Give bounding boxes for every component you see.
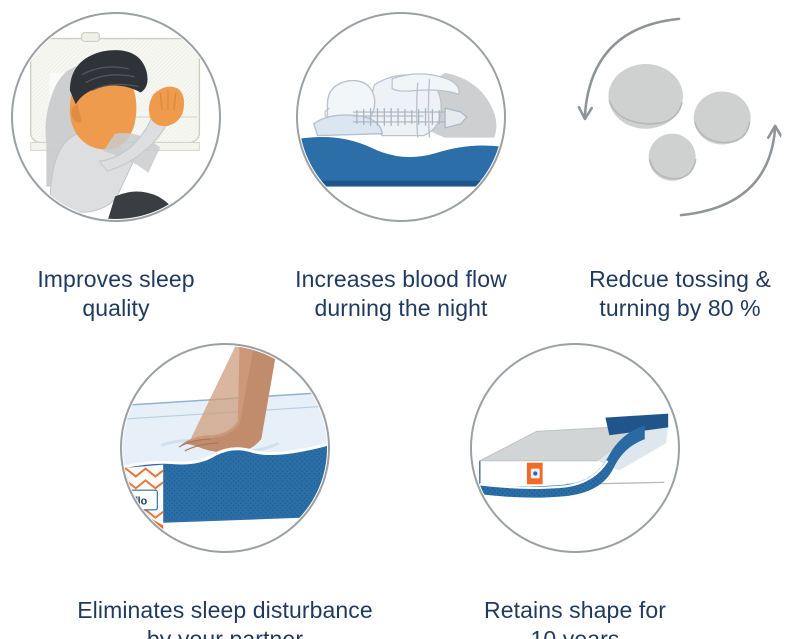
caption-line-2: quality [37, 294, 194, 323]
benefits-infographic: Improves sleep quality [0, 0, 800, 639]
feature-eliminates-sleep-disturbance: flo Eliminates sleep disturbance by your… [40, 343, 410, 639]
person-on-pillow-illustration [11, 12, 221, 222]
feature-retains-shape: Retains shape for 10 years [440, 343, 710, 639]
disc-small [649, 134, 696, 181]
feature-reduce-tossing-turning: Redcue tossing & turning by 80 % [560, 12, 800, 353]
caption-line-1: Improves sleep [37, 266, 194, 292]
feature-improves-sleep-quality: Improves sleep quality [0, 12, 232, 353]
caption-line-1: Retains shape for [484, 597, 666, 623]
hand-pressing-mattress-illustration: flo [120, 343, 330, 553]
caption-line-2: durning the night [295, 294, 507, 323]
brand-tag [527, 463, 543, 485]
feature-caption: Increases blood flow durning the night [295, 236, 507, 353]
caption-line-2: turning by 80 % [589, 294, 771, 323]
disc-medium [694, 91, 751, 144]
caption-line-2: by your partner [77, 625, 373, 639]
feature-caption: Retains shape for 10 years [484, 567, 666, 639]
caption-line-2: 10 years [484, 625, 666, 639]
feature-caption: Eliminates sleep disturbance by your par… [77, 567, 373, 639]
feature-increases-blood-flow: Increases blood flow durning the night [272, 12, 530, 353]
caption-line-1: Redcue tossing & [589, 266, 771, 292]
caption-line-1: Increases blood flow [295, 266, 507, 292]
spine-alignment-on-mattress-illustration [296, 12, 506, 222]
caption-line-1: Eliminates sleep disturbance [77, 597, 373, 623]
flo-brand-label: flo [134, 495, 148, 507]
feature-caption: Redcue tossing & turning by 80 % [589, 236, 771, 353]
feature-caption: Improves sleep quality [37, 236, 194, 353]
mattress-side-panel: flo [122, 465, 163, 542]
mattress-curled-corner-illustration [470, 343, 680, 553]
rotating-discs-illustration [575, 12, 785, 222]
disc-large [608, 64, 683, 129]
